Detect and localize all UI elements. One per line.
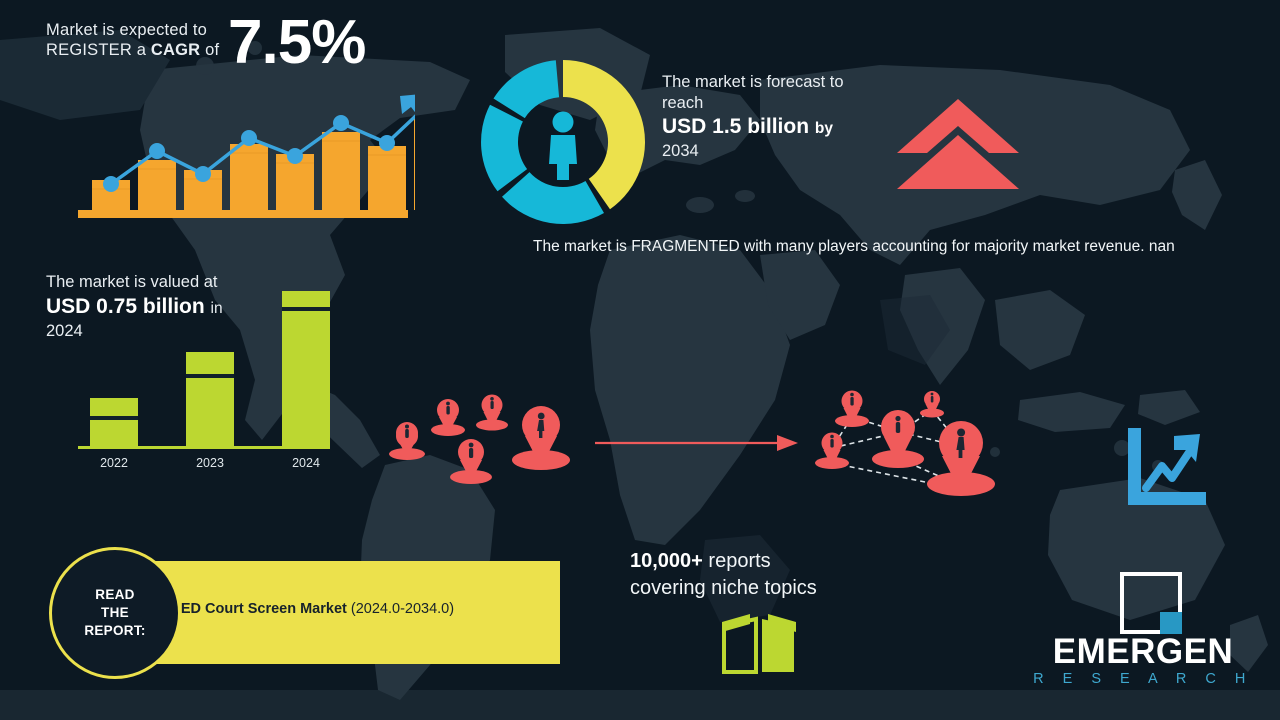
square-chart-mark-icon [1120,572,1182,634]
cta-line-3: REPORT: [84,622,145,640]
open-book-icon [720,610,798,676]
cagr-line-2-suffix: of [200,41,219,59]
forecast-text-block: The market is forecast to reach USD 1.5 … [662,72,907,162]
fragmented-text-block: The market is FRAGMENTED with many playe… [533,237,1223,258]
logo-subtitle: R E S E A R C H [1028,671,1258,687]
growth-line-chart-icon [70,88,415,223]
bar-2024-divider [282,307,330,311]
growth-chart-icon [1124,428,1206,510]
logo-accent-square [1160,612,1182,634]
cagr-value: 7.5% [228,12,365,74]
bar-2023-divider [186,374,234,378]
bar-2022 [90,398,138,448]
cta-line-2: THE [84,604,145,622]
map-pins-scattered-icon [380,385,590,497]
map-pins-networked-icon [805,385,1020,503]
forecast-line-1: The market is forecast to [662,72,907,93]
fragmented-suffix: with many players accounting for majorit… [740,238,1175,255]
report-year-range: (2024.0-2034.0) [351,601,454,617]
reports-count: 10,000+ [630,550,703,572]
bar-label-2022: 2022 [82,456,146,470]
reports-line-2: covering niche topics [630,575,930,602]
forecast-value-row: USD 1.5 billion by [662,114,907,141]
donut-segment-cyan-2 [481,105,527,192]
right-arrow-icon [595,432,800,454]
infographic-canvas: Market is expected to REGISTER a CAGR of… [0,0,1280,720]
double-chevron-up-icon [893,95,1023,190]
forecast-year: 2034 [662,141,907,162]
cagr-line-2-prefix: REGISTER a [46,41,151,59]
bar-2022-divider [90,416,138,420]
forecast-line-2: reach [662,93,907,114]
donut-segment-cyan-3 [494,60,560,118]
report-title: LED Court Screen Market (2024.0-2034.0) [172,601,552,617]
person-icon [549,112,577,181]
reports-text-block: 10,000+ reports covering niche topics [630,548,930,601]
logo-wordmark: EMERGEN [1028,634,1258,671]
read-the-report-button[interactable]: READ THE REPORT: [49,547,181,679]
emergen-research-logo: EMERGEN R E S E A R C H [1028,572,1258,684]
reports-line-1-rest: reports [703,550,771,572]
fragmented-keyword: FRAGMENTED [631,238,740,255]
donut-chart-person-icon [468,52,658,232]
green-revenue-bar-chart: 2022 2023 2024 [78,290,338,470]
bar-2023 [186,352,234,448]
bar-label-2024: 2024 [274,456,338,470]
fragmented-prefix: The market is [533,238,631,255]
read-the-report-label: READ THE REPORT: [84,586,145,640]
bar-2024 [282,291,330,448]
cta-line-1: READ [84,586,145,604]
donut-segment-cyan-1 [502,172,604,224]
forecast-value: USD 1.5 billion [662,115,809,138]
reports-line-1: 10,000+ reports [630,548,930,575]
forecast-connector: by [815,120,833,137]
cagr-keyword: CAGR [151,41,200,59]
report-title-text: LED Court Screen Market [172,601,347,617]
bar-label-2023: 2023 [178,456,242,470]
